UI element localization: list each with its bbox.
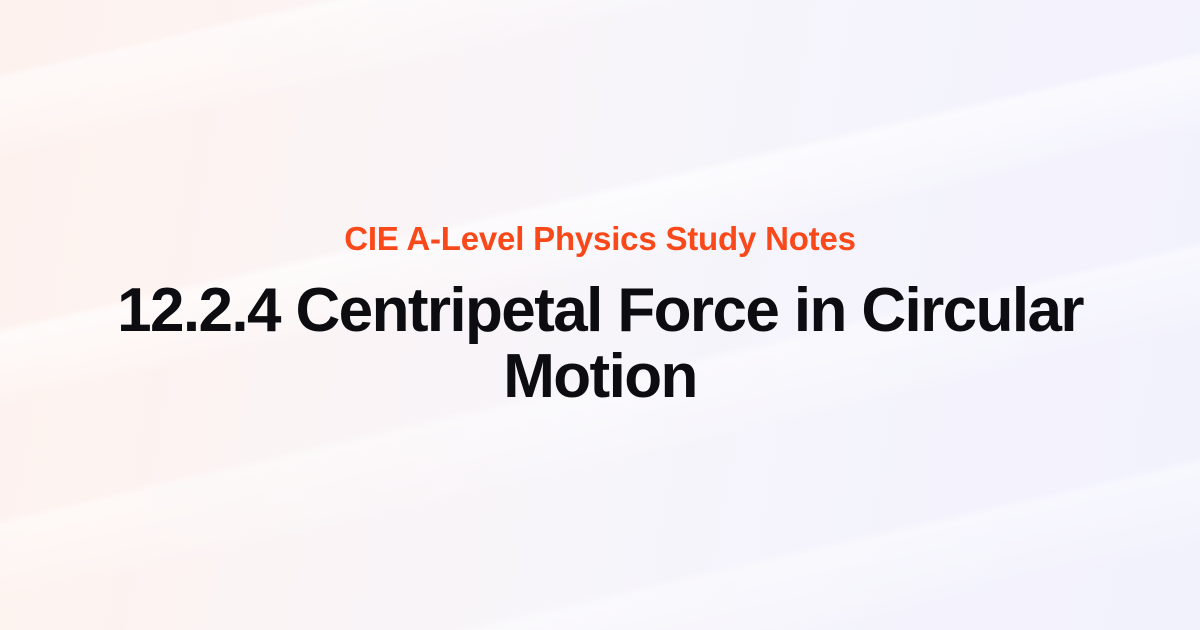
page-title: 12.2.4 Centripetal Force in Circular Mot… bbox=[95, 278, 1105, 409]
card-content: CIE A-Level Physics Study Notes 12.2.4 C… bbox=[0, 0, 1200, 630]
og-card: CIE A-Level Physics Study Notes 12.2.4 C… bbox=[0, 0, 1200, 630]
eyebrow-subtitle: CIE A-Level Physics Study Notes bbox=[344, 220, 856, 258]
